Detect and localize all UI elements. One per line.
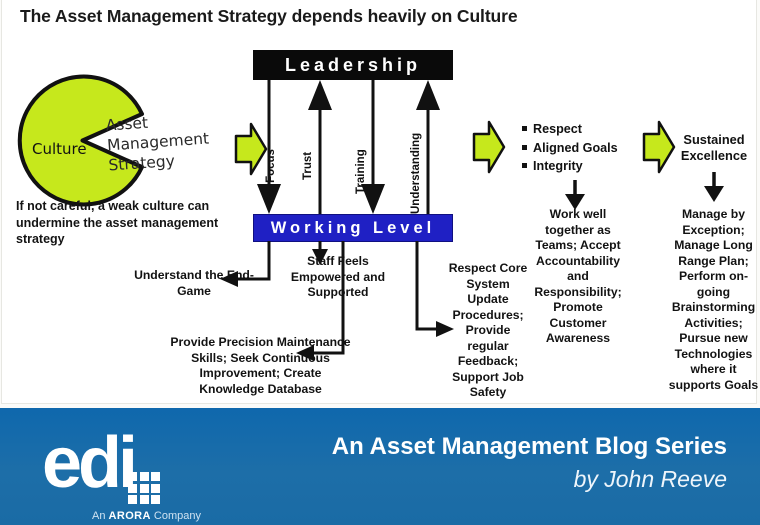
outcome-understand-end-game: Understand the End-Game	[134, 268, 254, 299]
page-title: The Asset Management Strategy depends he…	[20, 6, 517, 27]
bullet-item-aligned-goals: Aligned Goals	[522, 139, 632, 158]
working-level-bar: Working Level	[253, 214, 453, 242]
excellence-down-arrow-icon	[702, 172, 726, 202]
arrow-label-understanding: Understanding	[410, 133, 422, 214]
outcome-staff-feels: Staff Feels Empowered and Supported	[278, 254, 398, 301]
tagline-brand: ARORA	[109, 510, 151, 522]
leadership-bar: Leadership	[253, 50, 453, 80]
edi-logo-grid-icon	[128, 472, 160, 504]
outcome-respect-core-system: Respect Core System Update Procedures; P…	[445, 261, 531, 401]
green-chevron-icon-2	[472, 120, 506, 174]
edi-logo-tagline: An ARORA Company	[92, 510, 201, 522]
leadership-bar-label: Leadership	[285, 55, 421, 76]
tagline-prefix: An	[92, 510, 109, 522]
edi-logo-text: edi	[42, 432, 134, 494]
arrow-label-set-focus: Set Focus	[265, 149, 277, 204]
banner-author: by John Reeve	[574, 466, 727, 493]
working-level-bar-label: Working Level	[271, 219, 435, 238]
arrow-label-training: Training	[355, 149, 367, 194]
bullet-item-respect: Respect	[522, 120, 632, 139]
edi-logo: edi An ARORA Company	[42, 432, 134, 494]
tagline-suffix: Company	[151, 510, 201, 522]
asset-management-strategy-label: Asset Management Strategy	[105, 109, 211, 176]
values-result-text: Work well together as Teams; Accept Acco…	[529, 207, 627, 347]
banner-title: An Asset Management Blog Series	[332, 433, 727, 461]
excellence-result-text: Manage by Exception; Manage Long Range P…	[666, 207, 760, 393]
bullet-item-integrity: Integrity	[522, 157, 632, 176]
diagram-panel: The Asset Management Strategy depends he…	[1, 0, 757, 404]
values-bullet-list: Respect Aligned Goals Integrity	[522, 120, 632, 176]
sustained-excellence-heading: Sustained Excellence	[668, 132, 760, 163]
bullet-square-icon	[522, 163, 527, 168]
arrow-label-trust: Trust	[302, 152, 314, 180]
footer-banner: edi An ARORA Company An Asset Management…	[0, 408, 760, 525]
outcome-provide-precision: Provide Precision Maintenance Skills; Se…	[168, 335, 353, 397]
bullet-square-icon	[522, 145, 527, 150]
screenshot-root: The Asset Management Strategy depends he…	[0, 0, 760, 525]
culture-label: Culture	[32, 140, 87, 158]
values-down-arrow-icon	[563, 180, 587, 210]
bullet-square-icon	[522, 126, 527, 131]
